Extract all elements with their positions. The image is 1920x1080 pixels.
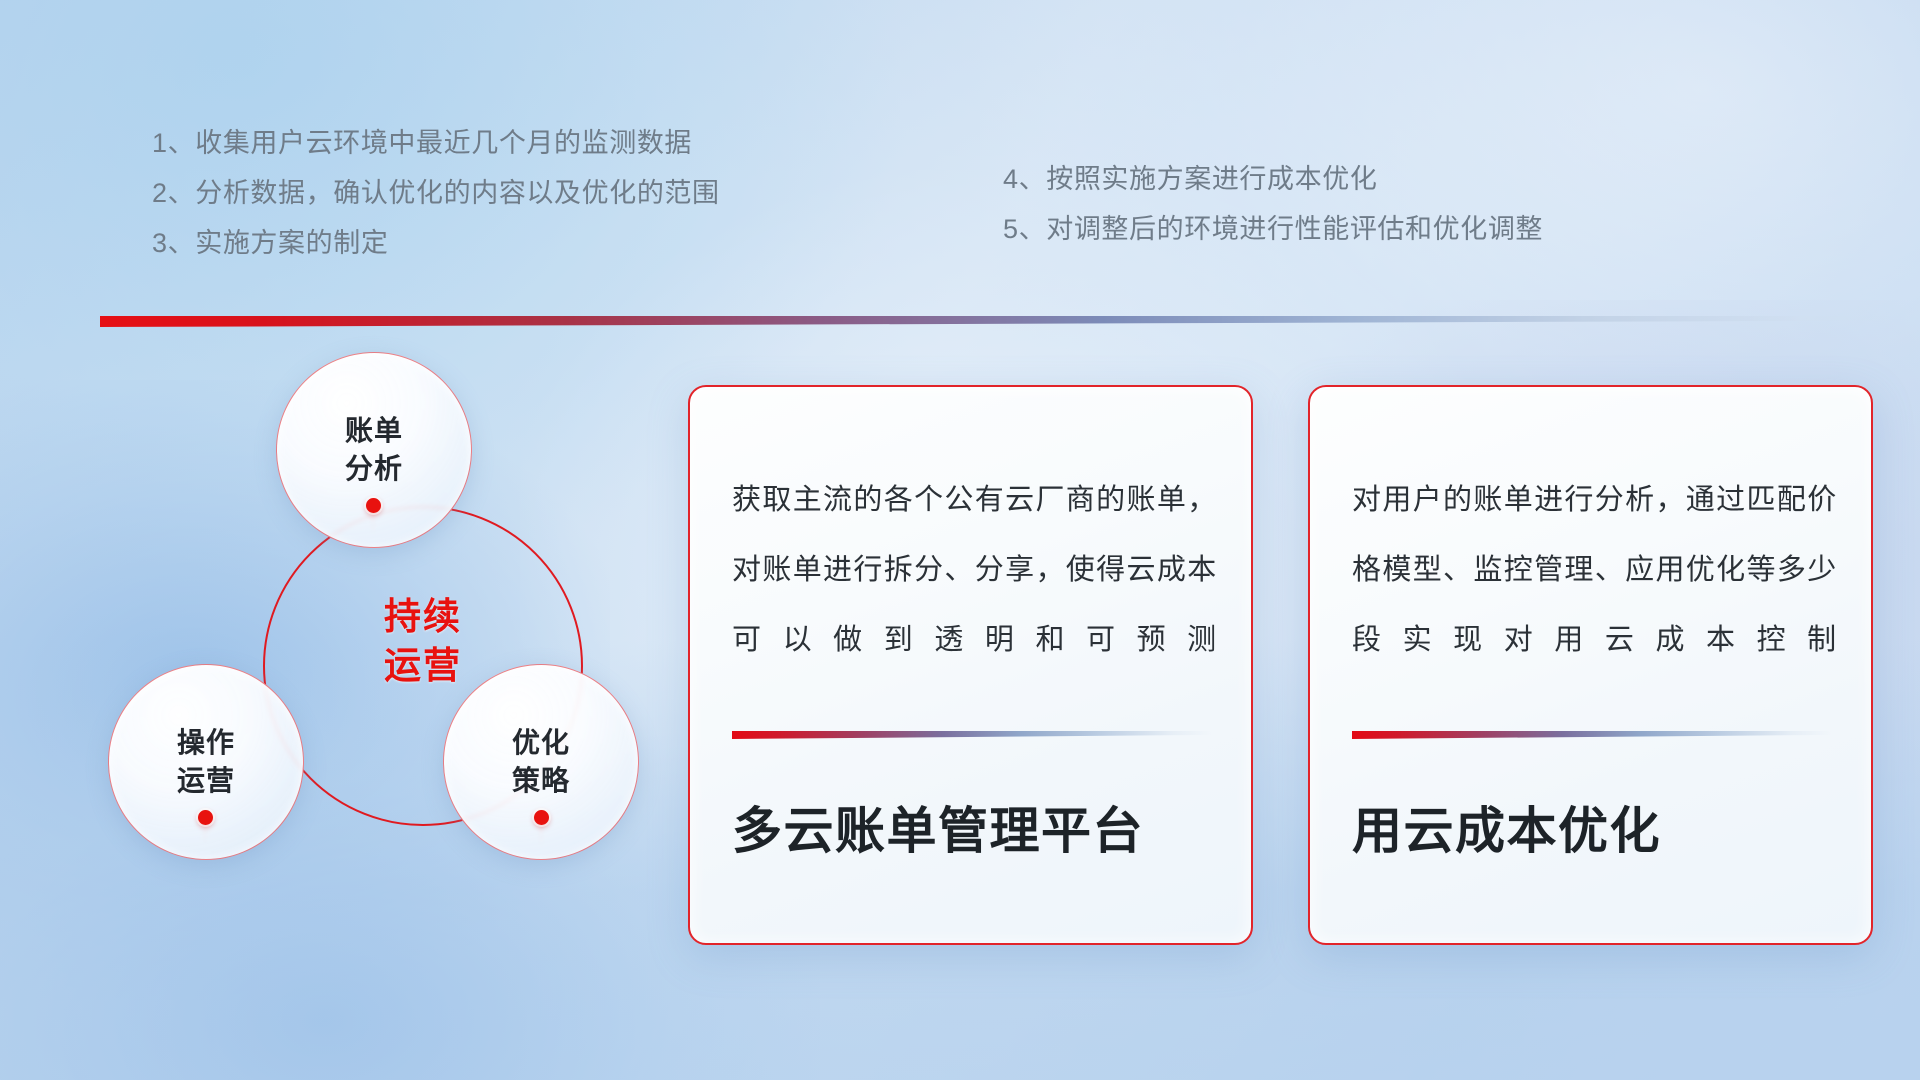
venn-node-optimization-strategy[interactable]: 优化 策略 [443, 664, 639, 860]
connector-dot-top [366, 498, 381, 513]
steps-right-column: 4、按照实施方案进行成本优化 5、对调整后的环境进行性能评估和优化调整 [1003, 154, 1543, 254]
step-item-3: 3、实施方案的制定 [152, 218, 720, 268]
venn-node-label: 操作 运营 [177, 724, 235, 800]
card-multicloud-billing-platform[interactable]: 获取主流的各个公有云厂商的账单，对账单进行拆分、分享，使得云成本可以做到透明和可… [688, 385, 1253, 945]
venn-node-operations[interactable]: 操作 运营 [108, 664, 304, 860]
card-description: 获取主流的各个公有云厂商的账单，对账单进行拆分、分享，使得云成本可以做到透明和可… [732, 465, 1217, 675]
venn-node-billing-analysis[interactable]: 账单 分析 [276, 352, 472, 548]
step-item-4: 4、按照实施方案进行成本优化 [1003, 154, 1543, 204]
card-body: 获取主流的各个公有云厂商的账单，对账单进行拆分、分享，使得云成本可以做到透明和可… [732, 465, 1217, 675]
step-item-5: 5、对调整后的环境进行性能评估和优化调整 [1003, 204, 1543, 254]
card-cloud-cost-optimization[interactable]: 对用户的账单进行分析，通过匹配价格模型、监控管理、应用优化等多少段实现对用云成本… [1308, 385, 1873, 945]
card-body: 对用户的账单进行分析，通过匹配价格模型、监控管理、应用优化等多少段实现对用云成本… [1352, 465, 1837, 675]
card-title: 用云成本优化 [1352, 791, 1661, 863]
card-divider [732, 731, 1211, 739]
card-divider [1352, 731, 1831, 739]
connector-dot-bottom-left [198, 810, 213, 825]
divider-gradient-bar [100, 316, 1890, 327]
step-item-2: 2、分析数据，确认优化的内容以及优化的范围 [152, 168, 720, 218]
card-description: 对用户的账单进行分析，通过匹配价格模型、监控管理、应用优化等多少段实现对用云成本… [1352, 465, 1837, 675]
steps-left-column: 1、收集用户云环境中最近几个月的监测数据 2、分析数据，确认优化的内容以及优化的… [152, 118, 720, 268]
section-divider [100, 316, 1890, 327]
venn-node-label: 优化 策略 [512, 724, 570, 800]
card-title: 多云账单管理平台 [732, 791, 1144, 863]
connector-dot-bottom-right [534, 810, 549, 825]
venn-node-label: 账单 分析 [345, 412, 403, 488]
step-item-1: 1、收集用户云环境中最近几个月的监测数据 [152, 118, 720, 168]
venn-diagram: 持续 运营 账单 分析 操作 运营 优化 策略 [98, 352, 658, 952]
